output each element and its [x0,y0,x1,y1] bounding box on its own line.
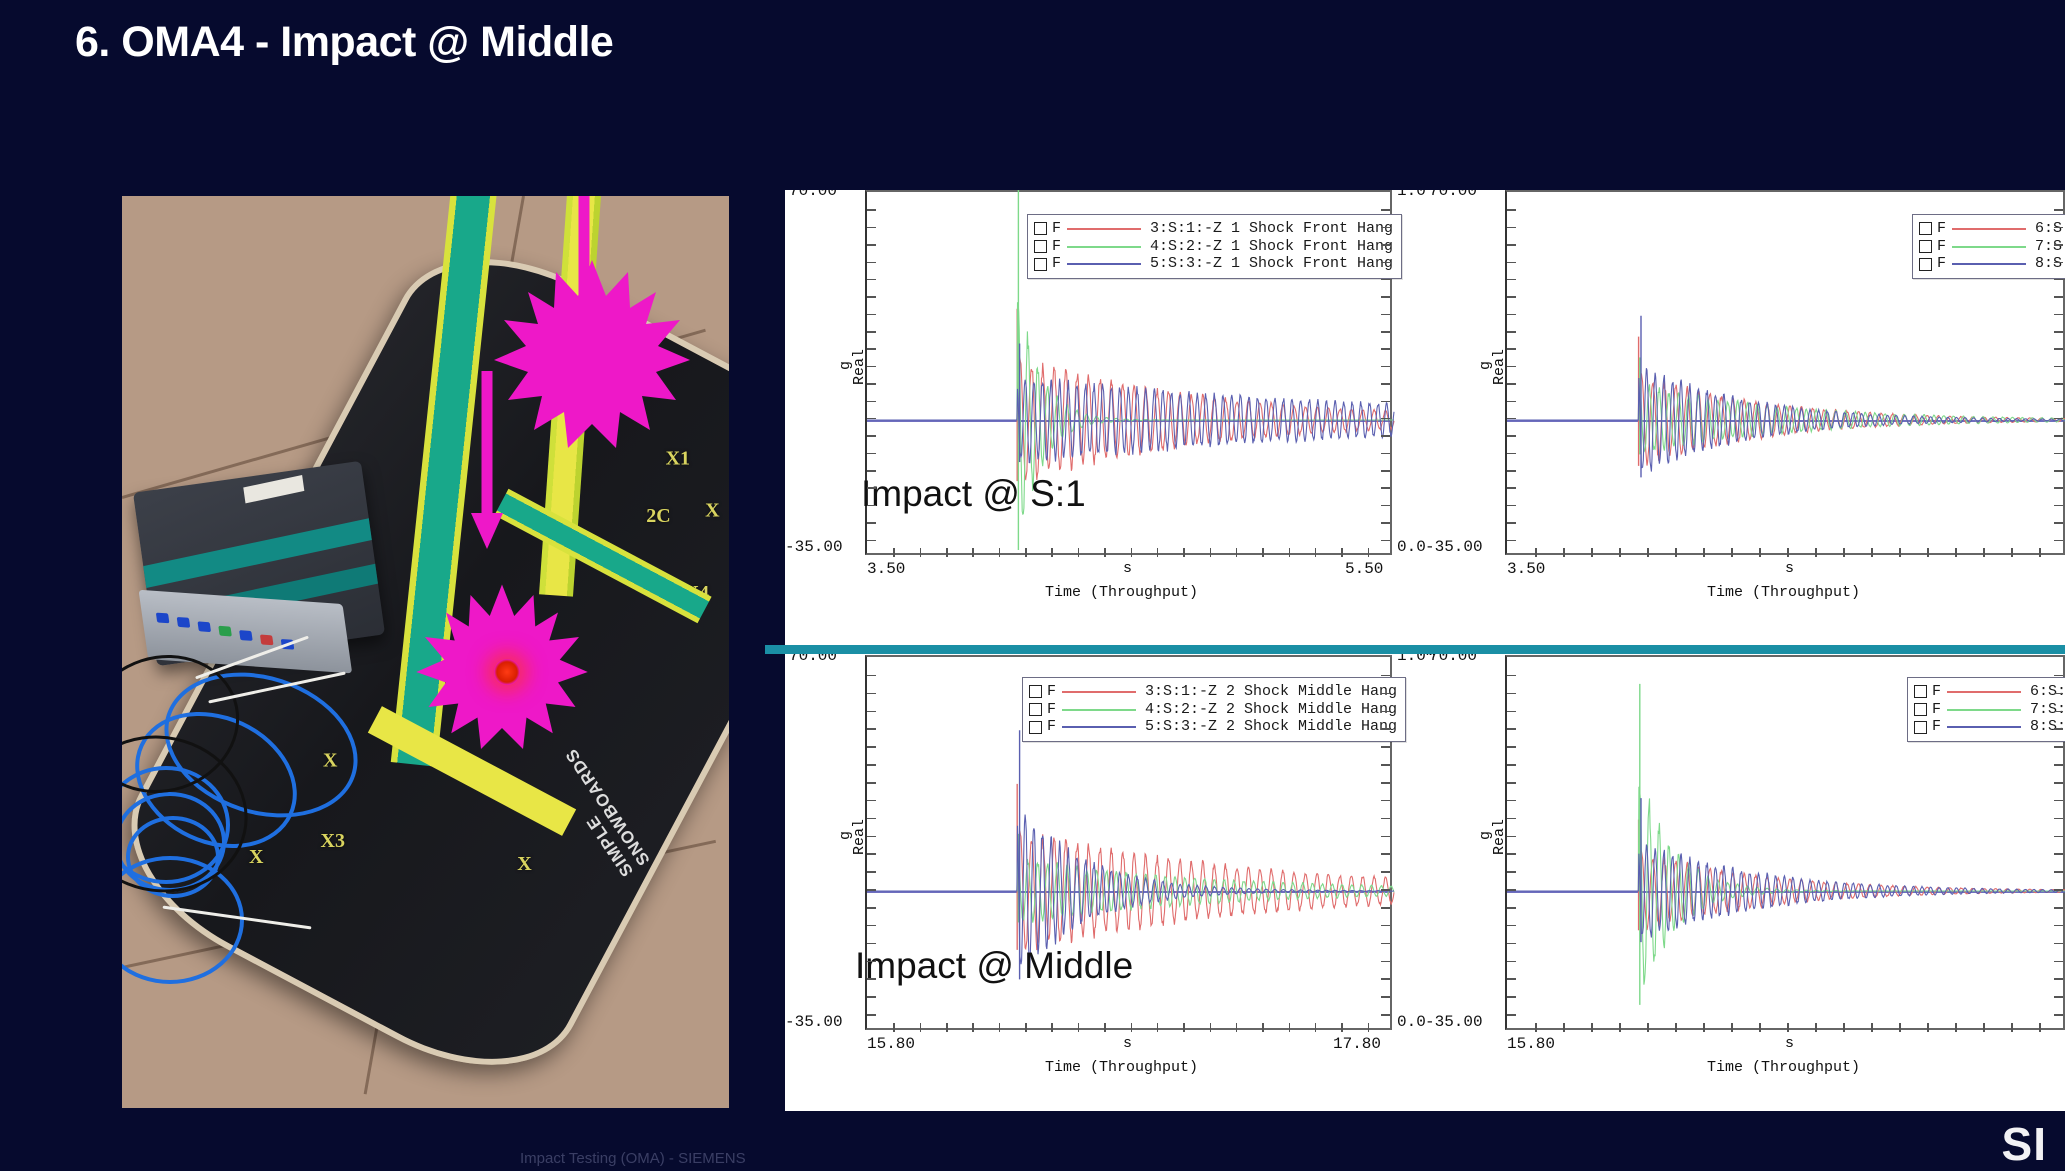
y-axis-tick [867,453,876,455]
y2-axis-tick [1381,314,1390,316]
y-axis-tick [1507,296,1516,298]
legend-item: F 5:S:3:-Z 1 Shock Front Hang [1034,255,1393,273]
y-axis-tick [1507,943,1516,945]
x-axis-tick [1078,548,1080,557]
x-axis-tick [1787,1023,1789,1032]
x-axis-min-label: 15.80 [867,1035,915,1053]
y-axis-tick [867,209,876,211]
y2-axis-tick [2054,331,2063,333]
y-axis-tick [1507,366,1516,368]
y-axis-tick [867,522,876,524]
x-axis-tick [999,1023,1001,1032]
x-axis-tick [1815,1023,1817,1032]
chart-overlay-label: Impact @ S:1 [861,473,1086,515]
x-axis-tick [893,548,895,557]
x-axis-tick [1563,1023,1565,1032]
x-axis-tick [1183,1023,1185,1032]
y-axis-tick [1507,871,1516,873]
y2-axis-tick [2054,907,2063,909]
x-axis-tick [1647,1023,1649,1032]
legend-label: 3:S:1:-Z 1 Shock Front Hang [1150,220,1393,238]
x-axis-tick [1131,1023,1133,1032]
y2-axis-tick [2054,728,2063,730]
x-axis-tick [1262,1023,1264,1032]
y2-axis-tick [2054,487,2063,489]
y-axis-tick [1507,262,1516,264]
x-axis-tick [1871,1023,1873,1032]
y-axis-tick [867,383,876,385]
x-axis-tick [1368,548,1370,557]
y2-axis-tick [1381,728,1390,730]
y-axis-tick [1507,925,1516,927]
y-axis-tick [867,978,876,980]
legend-item: F 7:S:5:-Z 2 Shock Middle Hang [1914,701,2065,719]
legend-color-swatch [1952,246,2026,248]
legend-item: F 6:S:4:-Z 1 Shock Front Hang [1919,220,2065,238]
impact-point-marker [494,659,520,685]
y2-axis-tick [2054,453,2063,455]
y-axis-tick [867,435,876,437]
y-axis-tick [1507,889,1516,891]
legend-f-label: F [1937,238,1946,256]
y2-axis-tick [2054,435,2063,437]
legend-color-swatch [1947,691,2021,693]
y2-axis-tick [1381,943,1390,945]
x-axis-tick [920,548,922,557]
y2-axis-tick [2054,279,2063,281]
y2-axis-tick [2054,383,2063,385]
y2-axis-tick [1381,996,1390,998]
y-axis-tick [867,746,876,748]
y2-axis-tick [1381,818,1390,820]
x-axis-tick [1591,1023,1593,1032]
y-axis-min-label: -35.00 [785,538,843,556]
chart-legend[interactable]: F 3:S:1:-Z 1 Shock Front Hang F 4:S:2:-Z… [1027,214,1402,279]
section-divider [765,645,2065,654]
x-axis-tick [1843,548,1845,557]
y2-axis-tick [2054,818,2063,820]
y-axis-tick [1507,818,1516,820]
y-axis-tick [1507,522,1516,524]
y-axis-tick [1507,279,1516,281]
x-axis-tick [1104,1023,1106,1032]
y-axis-tick [867,487,876,489]
y-axis-tick [1507,435,1516,437]
y-axis-tick [1507,764,1516,766]
y-axis-tick [867,331,876,333]
x-axis-min-label: 15.80 [1507,1035,1555,1053]
y-axis-tick [1507,331,1516,333]
brand-logo: SI [2002,1117,2047,1171]
snowboard-impact-test-photo: X1 2C X X4 X X X5 X X X3 X SIMPLE SNOWBO… [122,196,729,1108]
y-axis-tick [1507,853,1516,855]
legend-checkbox[interactable] [1914,703,1927,716]
y2-axis-tick [2054,889,2063,891]
x-axis-tick [1341,1023,1343,1032]
legend-label: 5:S:3:-Z 1 Shock Front Hang [1150,255,1393,273]
y2-axis-tick [1381,675,1390,677]
chart-legend[interactable]: F 6:S:4:-Z 2 Shock Middle Hang F 7:S:5:-… [1907,677,2065,742]
y2-axis-tick [1381,435,1390,437]
legend-color-swatch [1062,709,1136,711]
y-axis-tick [1507,487,1516,489]
chart-overlay-label: Impact @ Middle [855,945,1133,987]
x-axis-tick [1157,1023,1159,1032]
x-axis-tick [1955,548,1957,557]
legend-color-swatch [1952,263,2026,265]
y-axis-tick [1507,227,1516,229]
x-axis-tick [946,1023,948,1032]
legend-label: 5:S:3:-Z 2 Shock Middle Hang [1145,718,1397,736]
x-axis-tick [1703,548,1705,557]
y2-axis-tick [1381,453,1390,455]
y2-axis-tick [1381,978,1390,980]
chart-bottom-left[interactable]: 70.00 -35.00 g Real F 3:S:1:-Z 2 Shock M… [785,655,1425,1085]
legend-color-swatch [1062,726,1136,728]
legend-color-swatch [1067,228,1141,230]
y-axis-tick [867,244,876,246]
y2-axis-tick [2054,505,2063,507]
y-axis-tick [1507,453,1516,455]
x-axis-tick [1759,548,1761,557]
x-axis-tick [972,548,974,557]
x-axis-tick [1843,1023,1845,1032]
x-axis-tick [1315,1023,1317,1032]
sensor-cable-bundle [122,616,422,1016]
x-axis-tick [1591,548,1593,557]
legend-checkbox[interactable] [1919,258,1932,271]
y-axis-tick [867,540,876,542]
legend-label: 8:S:6:-Z 1 Shock Front Hang [2035,255,2065,273]
plot-area[interactable]: F 3:S:1:-Z 2 Shock Middle Hang F 4:S:2:-… [865,655,1392,1030]
y-axis-min-label: -35.00 [1425,538,1483,556]
x-axis-tick [1647,548,1649,557]
y2-axis-tick [1381,296,1390,298]
y-axis-tick [867,675,876,677]
x-axis-max-label: 17.80 [1333,1035,1381,1053]
x-axis-tick [1236,548,1238,557]
y2-axis-tick [2054,675,2063,677]
x-axis-tick [999,548,1001,557]
y-axis-tick [1507,418,1516,420]
x-axis-tick [946,548,948,557]
y2-axis-tick [2054,348,2063,350]
y-axis-tick [1507,907,1516,909]
impact-arrow-front [564,196,604,341]
legend-label: 7:S:5:-Z 2 Shock Middle Hang [2030,701,2065,719]
x-axis-tick [972,1023,974,1032]
chart-top-left[interactable]: 70.00 -35.00 g Real F 3:S:1:-Z 1 Shock F… [785,190,1425,610]
y-axis-tick [867,314,876,316]
x-axis-tick [1210,548,1212,557]
x-axis-tick [1051,548,1053,557]
y-axis-tick [867,401,876,403]
y2-axis-tick [2054,943,2063,945]
y-axis-tick [867,907,876,909]
impact-arrow-middle [467,371,507,556]
x-axis-tick [1262,548,1264,557]
legend-f-label: F [1932,701,1941,719]
legend-f-label: F [1052,220,1061,238]
y2-axis-tick [1381,693,1390,695]
y2-axis-tick [2054,871,2063,873]
y-axis-tick [1507,348,1516,350]
x-axis-tick [1535,1023,1537,1032]
y2-axis-tick [2054,522,2063,524]
y-axis-tick [867,227,876,229]
x-axis-tick [1927,1023,1929,1032]
y2-axis-tick [1381,540,1390,542]
legend-f-label: F [1932,718,1941,736]
legend-color-swatch [1067,263,1141,265]
page-title: 6. OMA4 - Impact @ Middle [75,18,613,67]
x-axis-tick [1341,548,1343,557]
x-axis-tick [1289,1023,1291,1032]
legend-item: F 8:S:6:-Z 2 Shock Middle Hang [1914,718,2065,736]
chart-top-right[interactable]: 70.00 -35.00 g Real F 6:S:4:-Z 1 Shock F… [1425,190,2065,610]
y2-axis-tick [2054,227,2063,229]
y-axis-tick [867,800,876,802]
x-axis-tick [1899,1023,1901,1032]
legend-checkbox[interactable] [1034,258,1047,271]
y-axis-max-label: 70.00 [789,190,837,200]
y-axis-tick [867,279,876,281]
y-axis-tick [1507,693,1516,695]
legend-checkbox[interactable] [1029,703,1042,716]
legend-f-label: F [1047,683,1056,701]
x-axis-unit-label: s [1123,560,1132,577]
y-axis-tick [867,728,876,730]
y2-axis-tick [1381,383,1390,385]
y2-axis-tick [2054,209,2063,211]
y2-axis-tick [2054,418,2063,420]
x-axis-tick [1157,548,1159,557]
y-axis-tick [1507,209,1516,211]
plot-area[interactable]: F 6:S:4:-Z 2 Shock Middle Hang F 7:S:5:-… [1505,655,2065,1030]
y2-axis-tick [1381,244,1390,246]
y2-axis-tick [1381,209,1390,211]
y2-axis-tick [2054,1014,2063,1016]
x-axis-title: Time (Throughput) [1045,1059,1198,1076]
y-axis-tick [1507,383,1516,385]
x-axis-tick [1236,1023,1238,1032]
y-axis-tick [867,366,876,368]
y2-axis-tick [1381,227,1390,229]
legend-checkbox[interactable] [1029,721,1042,734]
legend-checkbox[interactable] [1034,222,1047,235]
y-axis-min-label: -35.00 [1425,1013,1483,1031]
legend-checkbox[interactable] [1919,222,1932,235]
legend-item: F 6:S:4:-Z 2 Shock Middle Hang [1914,683,2065,701]
x-axis-tick [1025,548,1027,557]
y2-axis-tick [1381,782,1390,784]
chart-legend[interactable]: F 6:S:4:-Z 1 Shock Front Hang F 7:S:5:-Z… [1912,214,2065,279]
legend-f-label: F [1047,701,1056,719]
x-axis-tick [2039,1023,2041,1032]
y2-axis-tick [1381,331,1390,333]
y2-axis-tick [2054,262,2063,264]
x-axis-tick [1563,548,1565,557]
y2-axis-tick [1381,262,1390,264]
x-axis-tick [1983,1023,1985,1032]
y2-axis-tick [2054,244,2063,246]
x-axis-tick [1210,1023,1212,1032]
y-axis-tick [1507,961,1516,963]
legend-color-swatch [1067,246,1141,248]
y2-axis-tick [1381,470,1390,472]
y-axis-tick [1507,782,1516,784]
x-axis-tick [1025,1023,1027,1032]
y2-axis-tick [2054,401,2063,403]
y2-axis-tick [1381,925,1390,927]
y-axis-tick [867,996,876,998]
legend-f-label: F [1047,718,1056,736]
y-axis-tick [867,693,876,695]
footer-text: Impact Testing (OMA) - SIEMENS [520,1150,746,1167]
x-axis-tick [1104,548,1106,557]
y-axis-tick [867,262,876,264]
y2-axis-tick [2054,746,2063,748]
legend-color-swatch [1062,691,1136,693]
y2-axis-tick [2054,711,2063,713]
y2-axis-tick [1381,961,1390,963]
x-axis-tick [1787,548,1789,557]
y-axis-tick [1507,244,1516,246]
x-axis-tick [1289,548,1291,557]
y2-axis-tick [1381,366,1390,368]
y-axis-tick [1507,505,1516,507]
legend-checkbox[interactable] [1914,721,1927,734]
y-axis-tick [867,943,876,945]
y-axis-tick [867,418,876,420]
legend-f-label: F [1937,220,1946,238]
x-axis-tick [1183,548,1185,557]
y-axis-tick [867,961,876,963]
plot-area[interactable]: F 6:S:4:-Z 1 Shock Front Hang F 7:S:5:-Z… [1505,190,2065,555]
x-axis-tick [1759,1023,1761,1032]
y-axis-tick [867,853,876,855]
legend-item: F 3:S:1:-Z 1 Shock Front Hang [1034,220,1393,238]
chart-legend[interactable]: F 3:S:1:-Z 2 Shock Middle Hang F 4:S:2:-… [1022,677,1406,742]
legend-label: 8:S:6:-Z 2 Shock Middle Hang [2030,718,2065,736]
y2-axis-tick [2054,782,2063,784]
y-axis-tick [867,296,876,298]
legend-checkbox[interactable] [1034,240,1047,253]
legend-label: 4:S:2:-Z 1 Shock Front Hang [1150,238,1393,256]
x-axis-tick [1368,1023,1370,1032]
x-axis-max-label: 5.50 [1345,560,1383,578]
y2-axis-tick [1381,836,1390,838]
y2-axis-tick [1381,487,1390,489]
y2-axis-tick [1381,505,1390,507]
y2-axis-tick [1381,418,1390,420]
y2-axis-tick [2054,836,2063,838]
y2-axis-tick [2054,996,2063,998]
legend-f-label: F [1052,255,1061,273]
y2-axis-tick [2054,764,2063,766]
legend-label: 6:S:4:-Z 1 Shock Front Hang [2035,220,2065,238]
y-axis-tick [867,764,876,766]
y-axis-tick [867,782,876,784]
y-axis-tick [867,889,876,891]
legend-item: F 4:S:2:-Z 1 Shock Front Hang [1034,238,1393,256]
y-axis-tick [1507,711,1516,713]
legend-item: F 4:S:2:-Z 2 Shock Middle Hang [1029,701,1397,719]
y2-axis-tick [1381,1014,1390,1016]
y-axis-tick [1507,1014,1516,1016]
y2-axis-tick [2054,540,2063,542]
x-axis-tick [1731,548,1733,557]
y-axis-tick [867,818,876,820]
x-axis-tick [2039,548,2041,557]
y2-axis-tick [2054,296,2063,298]
y-axis-tick [1507,540,1516,542]
y-axis-tick [867,836,876,838]
y-axis-tick [867,925,876,927]
legend-item: F 7:S:5:-Z 1 Shock Front Hang [1919,238,2065,256]
x-axis-tick [1078,1023,1080,1032]
y2-axis-tick [1381,522,1390,524]
x-axis-tick [1955,1023,1957,1032]
y-axis-min-label: -35.00 [785,1013,843,1031]
y2-axis-tick [1381,800,1390,802]
y-axis-tick [1507,314,1516,316]
legend-label: 3:S:1:-Z 2 Shock Middle Hang [1145,683,1397,701]
x-axis-min-label: 3.50 [867,560,905,578]
x-axis-tick [893,1023,895,1032]
x-axis-tick [1051,1023,1053,1032]
y-axis-tick [867,348,876,350]
y2-axis-tick [2054,853,2063,855]
y-axis-tick [1507,978,1516,980]
x-axis-tick [1703,1023,1705,1032]
legend-color-swatch [1947,709,2021,711]
y2-axis-tick [2054,978,2063,980]
y2-axis-tick [1381,348,1390,350]
y-axis-tick [1507,401,1516,403]
legend-item: F 8:S:6:-Z 1 Shock Front Hang [1919,255,2065,273]
legend-checkbox[interactable] [1919,240,1932,253]
x-axis-tick [1983,548,1985,557]
x-axis-unit-label: s [1123,1035,1132,1052]
y2-axis-tick [1381,889,1390,891]
y-axis-tick [1507,728,1516,730]
legend-f-label: F [1937,255,1946,273]
x-axis-tick [1675,548,1677,557]
x-axis-tick [1927,548,1929,557]
y2-axis-tick [1381,907,1390,909]
x-axis-tick [1131,548,1133,557]
y-axis-tick [867,871,876,873]
legend-checkbox[interactable] [1914,685,1927,698]
x-axis-tick [1815,548,1817,557]
x-axis-tick [1899,548,1901,557]
x-axis-tick [1315,548,1317,557]
chart-bottom-right[interactable]: 70.00 -35.00 g Real F 6:S:4:-Z 2 Shock M… [1425,655,2065,1085]
legend-f-label: F [1932,683,1941,701]
legend-checkbox[interactable] [1029,685,1042,698]
x-axis-min-label: 3.50 [1507,560,1545,578]
x-axis-tick [1675,1023,1677,1032]
y2-axis-tick [1381,871,1390,873]
x-axis-title: Time (Throughput) [1045,584,1198,601]
plot-area[interactable]: F 3:S:1:-Z 1 Shock Front Hang F 4:S:2:-Z… [865,190,1392,555]
y2-axis-tick [2054,961,2063,963]
y2-axis-tick [1381,764,1390,766]
x-axis-tick [1731,1023,1733,1032]
x-axis-title: Time (Throughput) [1707,1059,1860,1076]
legend-item: F 3:S:1:-Z 2 Shock Middle Hang [1029,683,1397,701]
